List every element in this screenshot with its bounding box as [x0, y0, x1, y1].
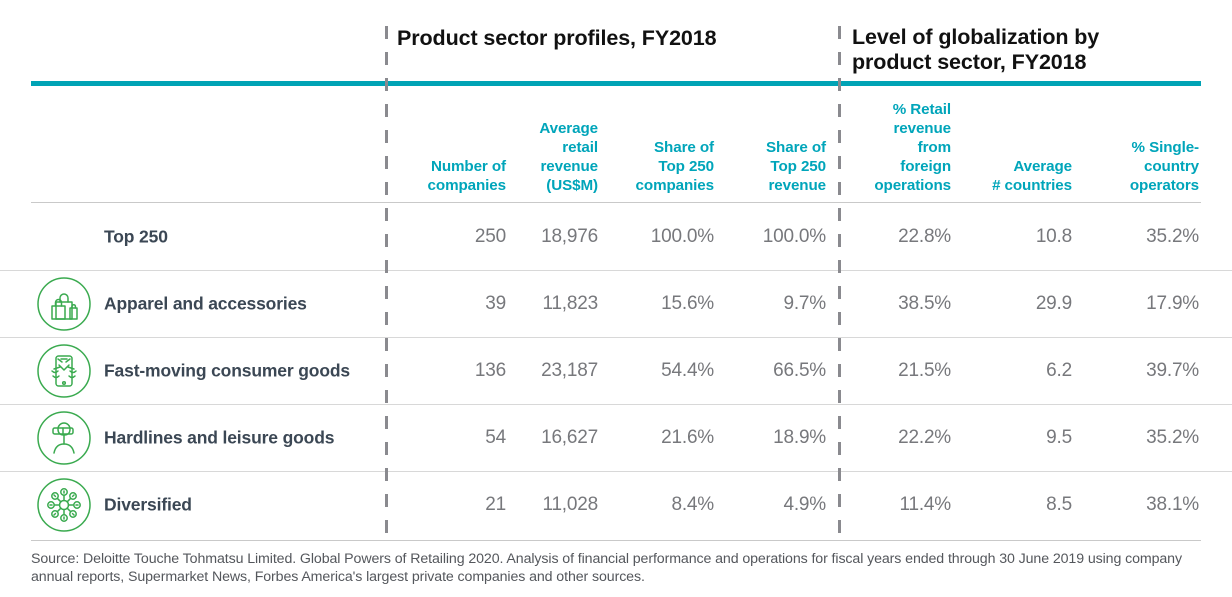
column-header-line: # countries	[968, 176, 1072, 195]
table-row[interactable]: Top 25025018,976100.0%100.0%22.8%10.835.…	[0, 203, 1232, 270]
column-header-line: % Retail	[855, 100, 951, 119]
cell-share_companies: 100.0%	[628, 226, 714, 248]
column-header-pct-retail-revenue-foreign: % Retailrevenuefromforeignoperations	[855, 100, 951, 195]
column-header-line: % Single-	[1091, 138, 1199, 157]
row-label-sector: Fast-moving consumer goods	[104, 361, 350, 382]
cell-pct_single_country: 35.2%	[1091, 226, 1199, 248]
cell-pct_foreign: 21.5%	[855, 360, 951, 382]
column-header-number-of-companies: Number ofcompanies	[402, 157, 506, 195]
cell-share_companies: 15.6%	[628, 293, 714, 315]
cell-share_revenue: 9.7%	[738, 293, 826, 315]
cell-avg_retail_revenue: 16,627	[520, 427, 598, 449]
cell-share_revenue: 18.9%	[738, 427, 826, 449]
cell-pct_foreign: 11.4%	[855, 494, 951, 516]
cell-num_companies: 54	[402, 427, 506, 449]
table-row[interactable]: Fast-moving consumer goods13623,18754.4%…	[0, 337, 1232, 404]
column-header-line: Share of	[628, 138, 714, 157]
group-title-product-sector-profiles: Product sector profiles, FY2018	[397, 26, 827, 51]
column-header-line: (US$M)	[520, 176, 598, 195]
column-header-pct-single-country-operators: % Single-countryoperators	[1091, 138, 1199, 195]
cell-share_companies: 54.4%	[628, 360, 714, 382]
row-label-sector: Apparel and accessories	[104, 294, 307, 315]
mobile-shopping-icon	[36, 343, 92, 399]
column-header-line: revenue	[520, 157, 598, 176]
cell-pct_foreign: 22.8%	[855, 226, 951, 248]
column-header-line: companies	[402, 176, 506, 195]
column-header-line: Average	[968, 157, 1072, 176]
table-body: Top 25025018,976100.0%100.0%22.8%10.835.…	[0, 203, 1232, 538]
cell-avg_countries: 8.5	[968, 494, 1072, 516]
cell-avg_countries: 9.5	[968, 427, 1072, 449]
cell-pct_single_country: 39.7%	[1091, 360, 1199, 382]
column-header-line: retail	[520, 138, 598, 157]
section-divider-left	[385, 26, 388, 538]
cell-pct_single_country: 17.9%	[1091, 293, 1199, 315]
row-label-sector: Hardlines and leisure goods	[104, 428, 334, 449]
column-header-line: foreign	[855, 157, 951, 176]
shopping-bags-icon	[36, 276, 92, 332]
section-divider-right	[838, 26, 841, 538]
footer-rule	[31, 540, 1201, 541]
column-header-average-retail-revenue: Averageretailrevenue(US$M)	[520, 119, 598, 195]
vr-headset-person-icon	[36, 410, 92, 466]
cell-avg_retail_revenue: 18,976	[520, 226, 598, 248]
column-header-line: revenue	[855, 119, 951, 138]
table-row[interactable]: Hardlines and leisure goods5416,62721.6%…	[0, 404, 1232, 471]
column-header-line: revenue	[738, 176, 826, 195]
cell-pct_foreign: 38.5%	[855, 293, 951, 315]
column-header-line: operators	[1091, 176, 1199, 195]
cell-avg_retail_revenue: 11,823	[520, 293, 598, 315]
cell-avg_retail_revenue: 11,028	[520, 494, 598, 516]
column-header-line: operations	[855, 176, 951, 195]
cell-pct_foreign: 22.2%	[855, 427, 951, 449]
group-title-level-of-globalization: Level of globalization by product sector…	[852, 25, 1152, 75]
table-figure: Product sector profiles, FY2018 Level of…	[0, 0, 1232, 597]
cell-share_revenue: 4.9%	[738, 494, 826, 516]
cell-num_companies: 136	[402, 360, 506, 382]
column-header-row: Number ofcompanies Averageretailrevenue(…	[0, 86, 1232, 203]
group-title-band: Product sector profiles, FY2018 Level of…	[0, 0, 1232, 80]
source-note: Source: Deloitte Touche Tohmatsu Limited…	[31, 551, 1211, 586]
cell-num_companies: 21	[402, 494, 506, 516]
column-header-line: Average	[520, 119, 598, 138]
column-header-line: companies	[628, 176, 714, 195]
cell-num_companies: 250	[402, 226, 506, 248]
cell-share_companies: 21.6%	[628, 427, 714, 449]
cell-num_companies: 39	[402, 293, 506, 315]
cell-avg_retail_revenue: 23,187	[520, 360, 598, 382]
column-header-share-of-top-250-companies: Share ofTop 250companies	[628, 138, 714, 195]
column-header-line: from	[855, 138, 951, 157]
cell-share_revenue: 66.5%	[738, 360, 826, 382]
column-header-line: Number of	[402, 157, 506, 176]
column-header-line: Share of	[738, 138, 826, 157]
column-header-share-of-top-250-revenue: Share ofTop 250revenue	[738, 138, 826, 195]
cell-avg_countries: 29.9	[968, 293, 1072, 315]
column-header-line: Top 250	[628, 157, 714, 176]
cell-avg_countries: 6.2	[968, 360, 1072, 382]
row-label-sector: Diversified	[104, 495, 192, 516]
cell-avg_countries: 10.8	[968, 226, 1072, 248]
cell-share_revenue: 100.0%	[738, 226, 826, 248]
table-row[interactable]: Apparel and accessories3911,82315.6%9.7%…	[0, 270, 1232, 337]
column-header-average-countries: Average# countries	[968, 157, 1072, 195]
row-label-sector: Top 250	[104, 226, 168, 247]
cell-pct_single_country: 38.1%	[1091, 494, 1199, 516]
column-header-line: Top 250	[738, 157, 826, 176]
cell-pct_single_country: 35.2%	[1091, 427, 1199, 449]
network-hub-icon	[36, 477, 92, 533]
table-row[interactable]: Diversified2111,0288.4%4.9%11.4%8.538.1%	[0, 471, 1232, 538]
cell-share_companies: 8.4%	[628, 494, 714, 516]
column-header-line: country	[1091, 157, 1199, 176]
